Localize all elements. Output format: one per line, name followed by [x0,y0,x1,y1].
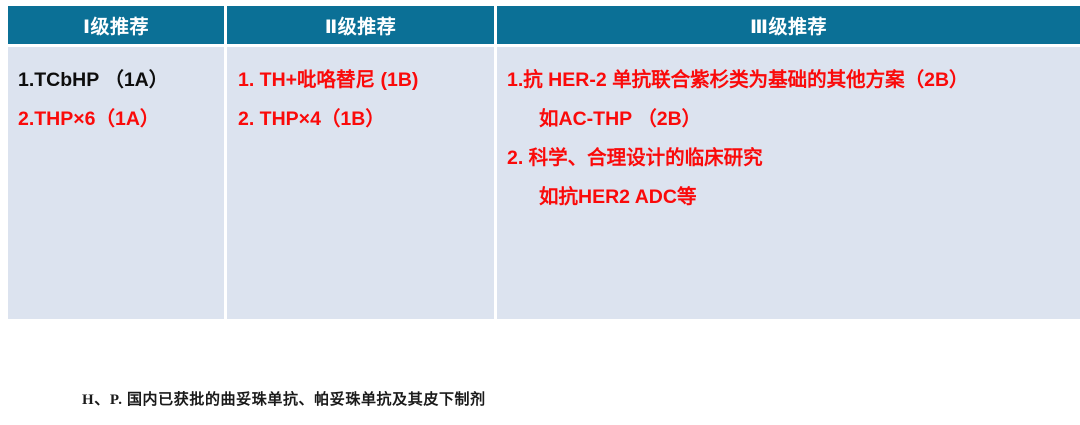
body-cell-level-2: 1. TH+吡咯替尼 (1B) 2. THP×4（1B） [227,47,497,319]
recommendation-table: Ⅰ级推荐 Ⅱ级推荐 Ⅲ级推荐 1.TCbHP （1A） 2.THP×6（1A） … [8,6,1080,319]
list-item: 2.THP×6（1A） [8,100,224,139]
header-cell-level-3: Ⅲ级推荐 [497,6,1080,47]
list-item-sub: 如抗HER2 ADC等 [497,178,1080,217]
body-cell-level-3: 1.抗 HER-2 单抗联合紫杉类为基础的其他方案（2B） 如AC-THP （2… [497,47,1080,319]
footnote-text: H、P. 国内已获批的曲妥珠单抗、帕妥珠单抗及其皮下制剂 [82,388,486,409]
list-item: 1.抗 HER-2 单抗联合紫杉类为基础的其他方案（2B） [497,61,1080,100]
list-item: 1.TCbHP （1A） [8,61,224,100]
list-item: 2. THP×4（1B） [227,100,494,139]
header-cell-level-2: Ⅱ级推荐 [227,6,497,47]
list-item: 1. TH+吡咯替尼 (1B) [227,61,494,100]
list-item-sub: 如AC-THP （2B） [497,100,1080,139]
list-item: 2. 科学、合理设计的临床研究 [497,139,1080,178]
table-header-row: Ⅰ级推荐 Ⅱ级推荐 Ⅲ级推荐 [8,6,1080,47]
slide-canvas: Ⅰ级推荐 Ⅱ级推荐 Ⅲ级推荐 1.TCbHP （1A） 2.THP×6（1A） … [0,0,1080,425]
table-body-row: 1.TCbHP （1A） 2.THP×6（1A） 1. TH+吡咯替尼 (1B)… [8,47,1080,319]
body-cell-level-1: 1.TCbHP （1A） 2.THP×6（1A） [8,47,227,319]
header-cell-level-1: Ⅰ级推荐 [8,6,227,47]
